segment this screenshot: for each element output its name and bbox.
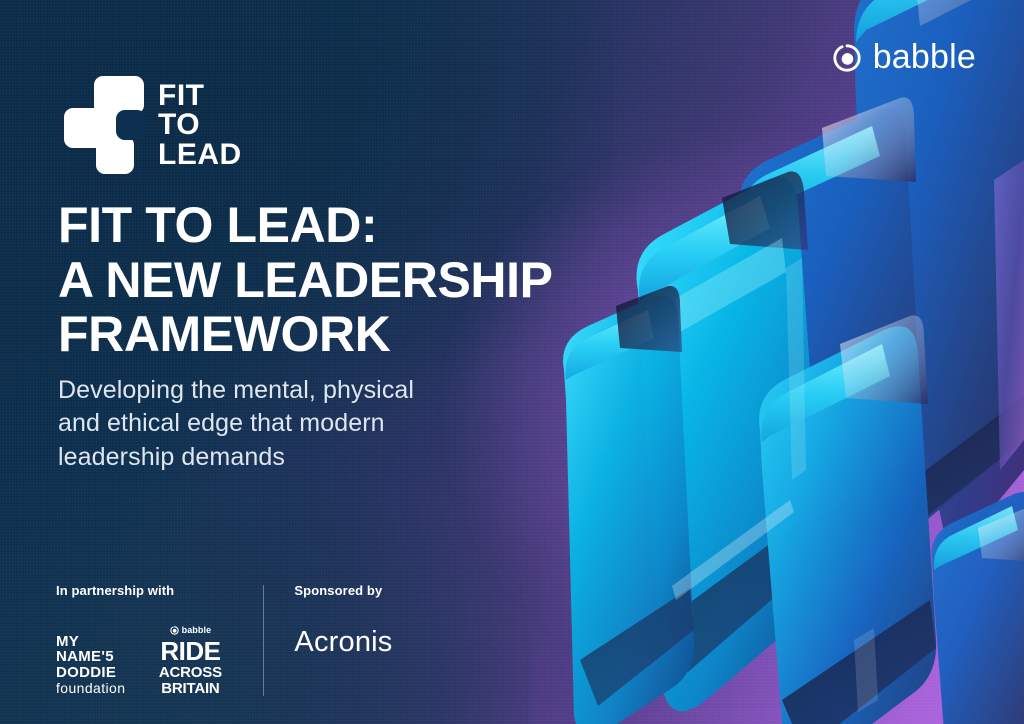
page-subtitle: Developing the mental, physical and ethi…: [58, 374, 414, 474]
mnd-line-1: MY: [56, 634, 125, 650]
rab-badge-text: babble: [182, 626, 212, 635]
sponsor-group: Sponsored by Acronis: [294, 583, 392, 661]
babble-ride-across-britain-logo: babble RIDE ACROSS BRITAIN: [151, 626, 229, 696]
my-name-5-doddie-foundation-logo: MY NAME'5 DODDIE foundation: [56, 634, 125, 696]
acronis-logo: Acronis: [294, 626, 392, 661]
page-title: FIT TO LEAD: A NEW LEADERSHIP FRAMEWORK: [58, 198, 553, 362]
mnd-line-2: NAME'5: [56, 649, 125, 665]
footer: In partnership with MY NAME'5 DODDIE fou…: [56, 583, 393, 696]
headline-line-1: FIT TO LEAD:: [58, 198, 553, 253]
sponsor-logos: Acronis: [294, 626, 392, 661]
rab-babble-badge: babble: [151, 626, 229, 635]
fit-to-lead-mark: [64, 76, 144, 174]
rab-line-1: RIDE: [151, 638, 229, 664]
mnd-line-4: foundation: [56, 681, 125, 696]
glass-panels-3d-render: [554, 0, 1024, 724]
partnership-group: In partnership with MY NAME'5 DODDIE fou…: [56, 583, 229, 696]
babble-droplet-icon-small: [170, 626, 179, 635]
logo-line-to: TO: [158, 110, 242, 139]
footer-divider: [263, 585, 264, 696]
rab-line-3: BRITAIN: [151, 681, 229, 696]
subhead-line-1: Developing the mental, physical: [58, 374, 414, 407]
fit-to-lead-logo: FIT TO LEAD: [64, 76, 242, 174]
partnership-label: In partnership with: [56, 583, 229, 598]
slide-canvas: FIT TO LEAD babble FIT TO LEAD: A NEW LE…: [0, 0, 1024, 724]
headline-line-2: A NEW LEADERSHIP: [58, 253, 553, 308]
babble-logo: babble: [832, 38, 976, 77]
headline-line-3: FRAMEWORK: [58, 307, 553, 362]
sponsor-label: Sponsored by: [294, 583, 392, 598]
babble-droplet-icon: [832, 43, 862, 73]
partner-logos: MY NAME'5 DODDIE foundation babble RIDE …: [56, 626, 229, 696]
logo-line-fit: FIT: [158, 81, 242, 110]
babble-wordmark: babble: [873, 38, 976, 77]
subhead-line-2: and ethical edge that modern: [58, 407, 414, 440]
fit-to-lead-wordmark: FIT TO LEAD: [158, 81, 242, 169]
subhead-line-3: leadership demands: [58, 441, 414, 474]
logo-line-lead: LEAD: [158, 140, 242, 169]
rab-line-2: ACROSS: [151, 665, 229, 680]
mnd-line-3: DODDIE: [56, 665, 125, 681]
